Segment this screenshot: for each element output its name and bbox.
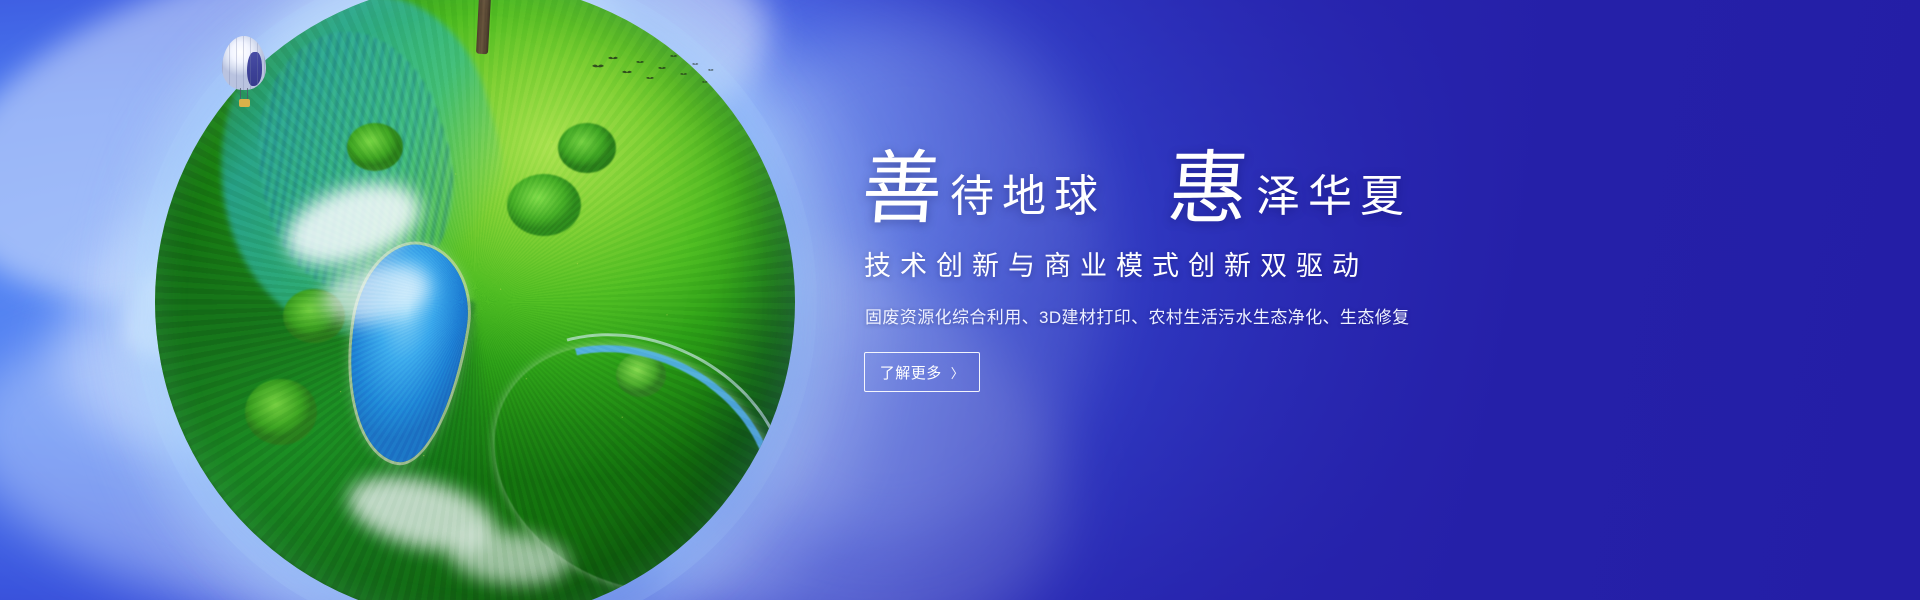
page-description: 固废资源化综合利用、3D建材打印、农村生活污水生态净化、生态修复 — [865, 303, 1642, 328]
headline-brush-char-2: 惠 — [1165, 154, 1250, 228]
learn-more-label: 了解更多 — [880, 362, 942, 383]
learn-more-button[interactable]: 了解更多 〉 — [864, 352, 980, 392]
chevron-right-icon: 〉 — [951, 363, 965, 382]
headline-kai-text-1: 待地球 — [950, 175, 1106, 228]
headline-brush-char-1: 善 — [859, 154, 944, 228]
headline-kai-text-2: 泽华夏 — [1256, 175, 1412, 228]
hero-banner: 善 待地球 惠 泽华夏 技术创新与商业模式创新双驱动 固废资源化综合利用、3D建… — [0, 0, 1920, 600]
page-title: 善 待地球 惠 泽华夏 — [862, 128, 1642, 228]
page-subtitle: 技术创新与商业模式创新双驱动 — [864, 244, 1642, 283]
banner-content: 善 待地球 惠 泽华夏 技术创新与商业模式创新双驱动 固废资源化综合利用、3D建… — [862, 128, 1642, 392]
